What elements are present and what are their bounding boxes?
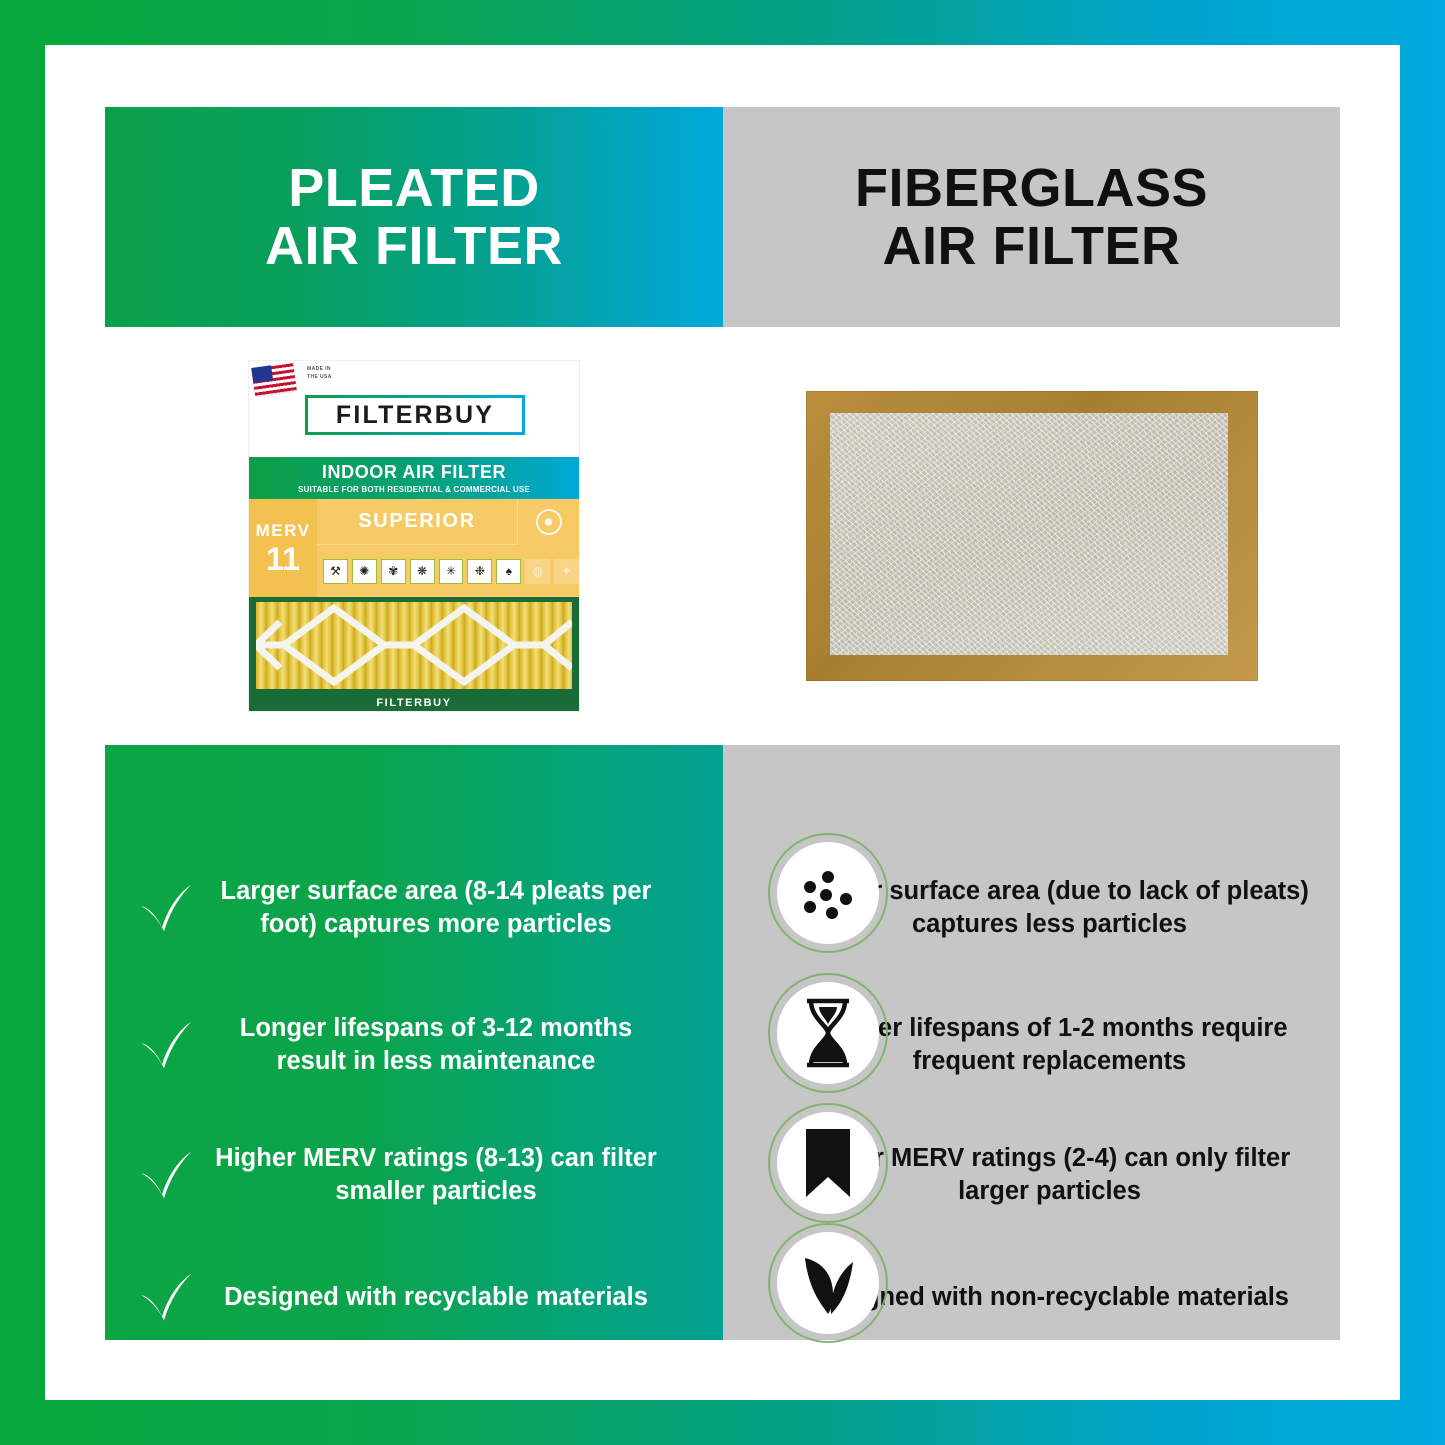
hourglass-icon [768, 973, 888, 1093]
usa-flag-icon [251, 362, 296, 396]
box-bottom-brand: FILTERBUY [249, 697, 579, 709]
fiberglass-image-cell [723, 327, 1340, 745]
merv-value: 11 [266, 543, 300, 575]
bookmark-icon [768, 1103, 888, 1223]
smoke-icon: ♠ [496, 559, 521, 584]
comparison-rows: Larger surface area (8-14 pleats per foo… [105, 745, 1340, 1340]
merv-label: MERV [256, 521, 311, 541]
row-left-cell: Designed with recyclable materials [105, 1264, 723, 1330]
headers-row: PLEATED AIR FILTER FIBERGLASS AIR FILTER [105, 107, 1340, 327]
row-left-cell: Longer lifespans of 3-12 months result i… [105, 1012, 723, 1078]
mold-icon: ✳ [439, 559, 464, 584]
bacteria-icon: ✾ [381, 559, 406, 584]
band-subtitle: SUITABLE FOR BOTH RESIDENTIAL & COMMERCI… [298, 485, 530, 494]
pill-icon: ◍ [525, 559, 550, 584]
row-left-text: Larger surface area (8-14 pleats per foo… [209, 875, 663, 940]
check-icon [133, 1264, 199, 1330]
leaf-icon [768, 1223, 888, 1343]
certification-seal: ✹ [517, 499, 579, 545]
comparison-row: Longer lifespans of 3-12 months result i… [105, 985, 1340, 1105]
filter-capability-icons: ⚒ ✺ ✾ ❋ ✳ ❉ ♠ ◍ ✦ [317, 545, 579, 597]
made-in-usa-label: MADE IN THE USA [307, 366, 332, 381]
product-images-row: MADE IN THE USA FILTERBUY INDOOR AIR FIL… [105, 327, 1340, 745]
fiberglass-media-texture [830, 413, 1228, 655]
pollen-icon: ❋ [410, 559, 435, 584]
seal-icon: ✹ [536, 509, 562, 535]
header-fiberglass: FIBERGLASS AIR FILTER [723, 107, 1340, 327]
band-title: INDOOR AIR FILTER [322, 462, 506, 483]
tier-label: SUPERIOR [317, 499, 517, 545]
comparison-row: Designed with recyclable materials Desig… [105, 1237, 1340, 1357]
icon-disc [777, 842, 879, 944]
filterbuy-product-box: MADE IN THE USA FILTERBUY INDOOR AIR FIL… [249, 361, 579, 711]
row-left-text: Designed with recyclable materials [209, 1281, 663, 1314]
wire-support-grid [256, 602, 572, 689]
infographic-card: PLEATED AIR FILTER FIBERGLASS AIR FILTER… [45, 45, 1400, 1400]
merv-badge: MERV 11 [249, 499, 317, 597]
icon-disc [777, 982, 879, 1084]
virus-icon: ✦ [554, 559, 579, 584]
icon-disc [777, 1112, 879, 1214]
particles-icon [768, 833, 888, 953]
pleated-image-cell: MADE IN THE USA FILTERBUY INDOOR AIR FIL… [105, 327, 723, 745]
row-left-cell: Larger surface area (8-14 pleats per foo… [105, 875, 723, 941]
fiberglass-filter-photo [806, 391, 1258, 681]
brand-logo-text: FILTERBUY [336, 401, 494, 430]
pet-dander-icon: ❉ [467, 559, 492, 584]
row-left-cell: Higher MERV ratings (8-13) can filter sm… [105, 1142, 723, 1208]
dust-icon: ⚒ [323, 559, 348, 584]
icon-disc [777, 1232, 879, 1334]
header-fiberglass-title: FIBERGLASS AIR FILTER [855, 159, 1208, 276]
box-gold-section: MERV 11 SUPERIOR ✹ ⚒ ✺ ✾ ❋ ✳ ❉ ♠ [249, 499, 579, 597]
check-icon [133, 1012, 199, 1078]
row-left-text: Longer lifespans of 3-12 months result i… [209, 1012, 663, 1077]
comparison-row: Higher MERV ratings (8-13) can filter sm… [105, 1115, 1340, 1235]
brand-logo-frame: FILTERBUY [305, 395, 525, 435]
check-icon [133, 875, 199, 941]
header-pleated: PLEATED AIR FILTER [105, 107, 723, 327]
header-pleated-title: PLEATED AIR FILTER [265, 159, 563, 276]
comparison-panel: Larger surface area (8-14 pleats per foo… [105, 745, 1340, 1340]
indoor-air-filter-band: INDOOR AIR FILTER SUITABLE FOR BOTH RESI… [249, 457, 579, 499]
comparison-row: Larger surface area (8-14 pleats per foo… [105, 833, 1340, 983]
insect-icon: ✺ [352, 559, 377, 584]
check-icon [133, 1142, 199, 1208]
row-left-text: Higher MERV ratings (8-13) can filter sm… [209, 1142, 663, 1207]
pleated-media-area: FILTERBUY [249, 597, 579, 711]
